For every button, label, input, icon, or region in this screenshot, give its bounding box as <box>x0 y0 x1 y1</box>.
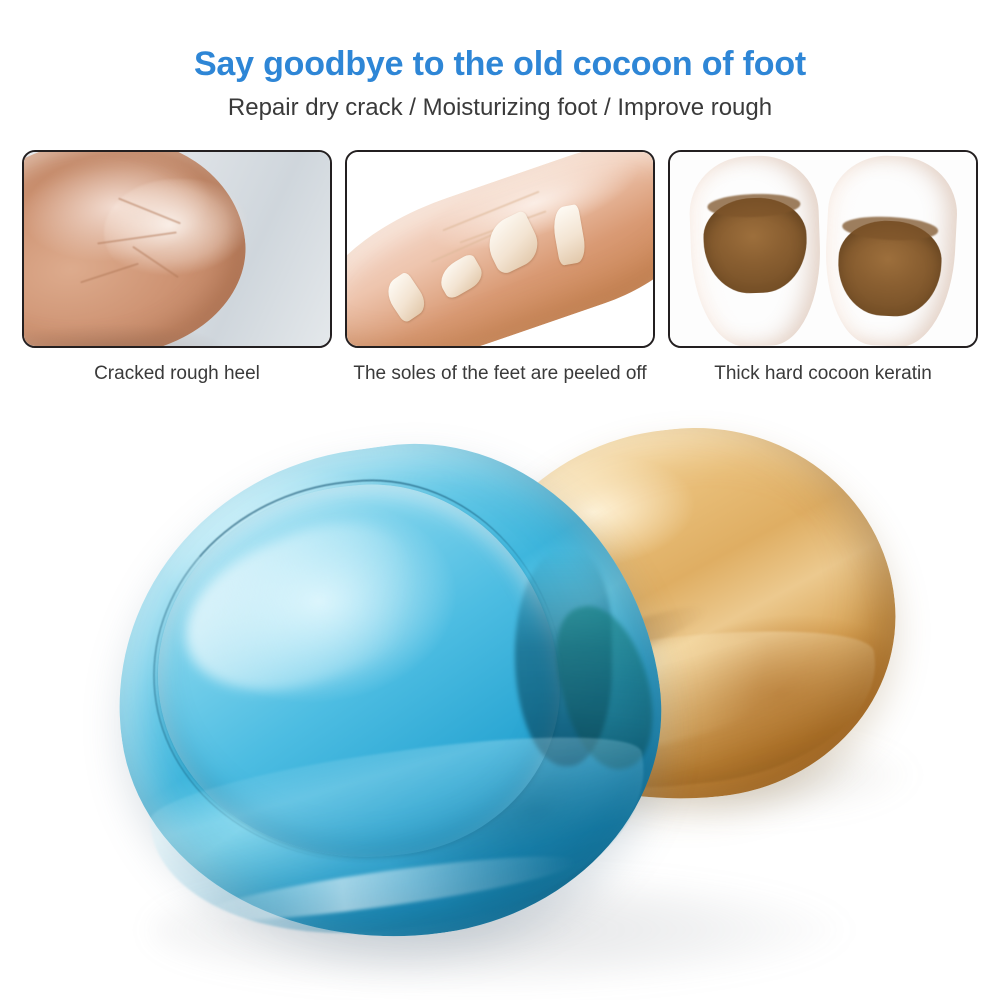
gallery-captions: Cracked rough heel The soles of the feet… <box>22 360 978 390</box>
callused-heels-illustration <box>670 152 976 346</box>
page-headline: Say goodbye to the old cocoon of foot <box>0 44 1000 84</box>
callused-heels-photo <box>668 150 978 348</box>
page-subheadline: Repair dry crack / Moisturizing foot / I… <box>0 92 1000 124</box>
cracked-rough-heel-photo <box>22 150 332 348</box>
gallery-item-peeling-sole <box>345 150 655 348</box>
peeling-sole-photo <box>345 150 655 348</box>
product-marketing-banner: Say goodbye to the old cocoon of foot Re… <box>0 0 1000 1000</box>
gallery-caption-2: The soles of the feet are peeled off <box>345 360 655 390</box>
gallery-item-callus-keratin <box>668 150 978 348</box>
problem-gallery <box>22 150 978 348</box>
dry-skin-patch <box>104 179 251 288</box>
cracked-heel-illustration <box>24 152 330 346</box>
gallery-caption-1: Cracked rough heel <box>22 360 332 390</box>
peeling-sole-illustration <box>347 152 653 346</box>
left-foot-shape <box>688 154 823 348</box>
foot-callus-remover-pair <box>0 400 1000 1000</box>
gallery-caption-3: Thick hard cocoon keratin <box>668 360 978 390</box>
right-foot-shape <box>821 153 959 348</box>
gallery-item-cracked-heel <box>22 150 332 348</box>
